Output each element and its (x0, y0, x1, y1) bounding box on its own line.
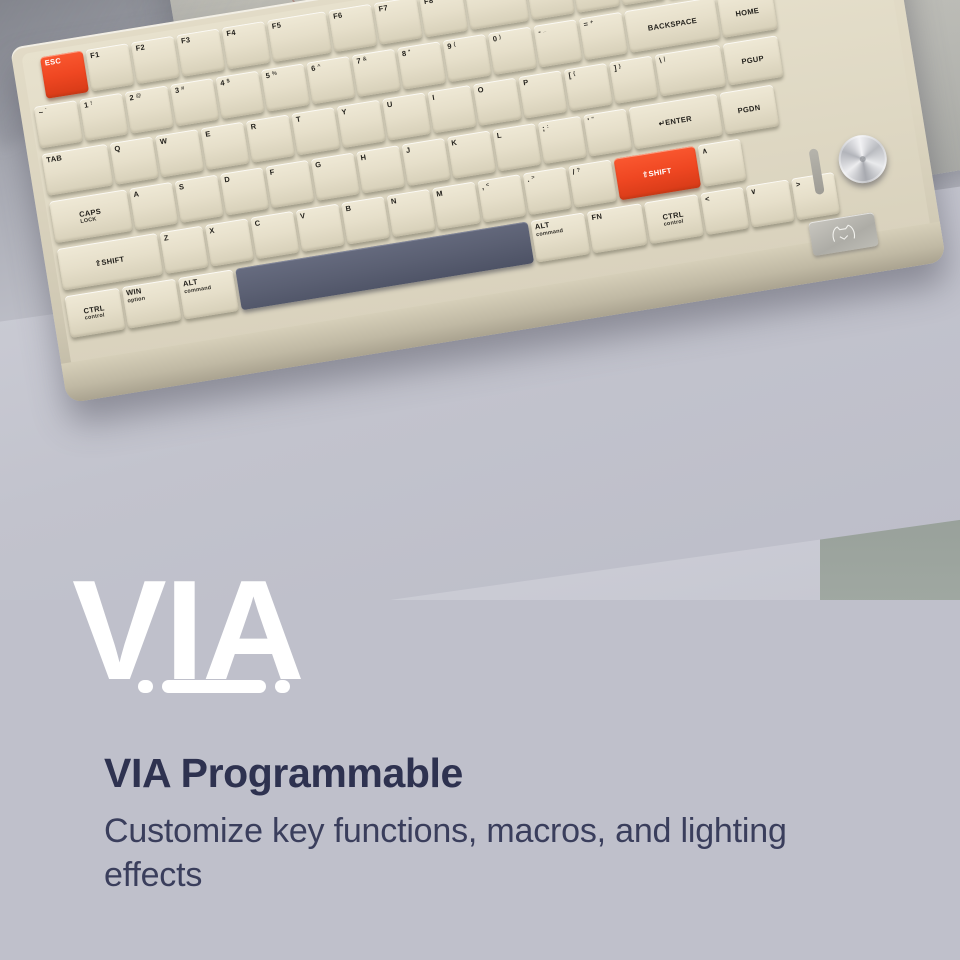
key-h[interactable]: H (356, 145, 405, 193)
key-8[interactable]: 8* (397, 41, 446, 89)
key-5[interactable]: 5% (261, 63, 310, 111)
key-fn[interactable]: FN (587, 203, 648, 253)
key-j[interactable]: J (401, 138, 450, 186)
subline: Customize key functions, macros, and lig… (104, 810, 864, 897)
key-f1[interactable]: F1 (85, 43, 134, 91)
key-f3[interactable]: F3 (176, 28, 225, 76)
marketing-content: VIA VIA Programmable Customize key funct… (0, 600, 960, 960)
decorative-divider (138, 680, 290, 693)
key-o[interactable]: O (473, 78, 522, 126)
key-space[interactable]: '" (583, 108, 632, 156)
key-f7[interactable]: F7 (374, 0, 423, 45)
divider-dot-right (275, 680, 290, 693)
key-alt[interactable]: ALTcommand (178, 269, 239, 319)
key-space[interactable]: ;: (537, 116, 586, 164)
key-n[interactable]: N (386, 189, 435, 237)
product-photo: V75 minimalistic design · inhe THIS IS E… (0, 0, 960, 600)
key-m[interactable]: M (431, 182, 480, 230)
key-win[interactable]: WINoption (121, 279, 182, 329)
key-x[interactable]: X (204, 218, 253, 266)
key-space[interactable]: [{ (564, 63, 613, 111)
key-q[interactable]: Q (110, 136, 159, 184)
key-space[interactable]: ,< (477, 174, 526, 222)
key-6[interactable]: 6^ (306, 56, 355, 104)
divider-dot-left (138, 680, 153, 693)
key-space[interactable]: ~` (34, 100, 83, 148)
key-esc[interactable]: ESC (40, 50, 89, 98)
key-t[interactable]: T (291, 107, 340, 155)
key-v[interactable]: V (295, 204, 344, 252)
key-1[interactable]: 1! (79, 93, 128, 141)
key-ctrl[interactable]: CTRLcontrol (643, 194, 704, 244)
key-u[interactable]: U (382, 92, 431, 140)
key-a[interactable]: A (129, 182, 178, 230)
promo-image: V75 minimalistic design · inhe THIS IS E… (0, 0, 960, 960)
key-pgup[interactable]: PGUP (723, 35, 784, 85)
key-space[interactable]: ∧ (697, 139, 746, 187)
key-g[interactable]: G (310, 153, 359, 201)
key-space[interactable]: ]} (609, 56, 658, 104)
key-w[interactable]: W (155, 129, 204, 177)
key-space[interactable]: .> (522, 167, 571, 215)
key-f[interactable]: F (265, 160, 314, 208)
key-b[interactable]: B (341, 196, 390, 244)
key-ctrl[interactable]: CTRLcontrol (64, 288, 125, 338)
key-space[interactable]: -_ (533, 19, 582, 67)
cat-icon (827, 221, 860, 248)
key-4[interactable]: 4$ (215, 71, 264, 119)
key-i[interactable]: I (427, 85, 476, 133)
key-k[interactable]: K (446, 131, 495, 179)
key-space[interactable]: < (700, 187, 749, 235)
key-z[interactable]: Z (159, 226, 208, 274)
headline: VIA Programmable (104, 750, 463, 797)
key-d[interactable]: D (219, 167, 268, 215)
key-space[interactable]: /? (568, 159, 617, 207)
key-c[interactable]: C (250, 211, 299, 259)
key-0[interactable]: 0) (488, 27, 537, 75)
key-7[interactable]: 7& (352, 49, 401, 97)
key-s[interactable]: S (174, 175, 223, 223)
key-9[interactable]: 9( (442, 34, 491, 82)
key-e[interactable]: E (200, 122, 249, 170)
key-y[interactable]: Y (337, 100, 386, 148)
key-f4[interactable]: F4 (222, 21, 271, 69)
key-f2[interactable]: F2 (131, 36, 180, 84)
key-space[interactable]: =+ (579, 12, 628, 60)
key-r[interactable]: R (246, 114, 295, 162)
key-space[interactable]: ∨ (746, 179, 795, 227)
key-3[interactable]: 3# (170, 78, 219, 126)
key-f6[interactable]: F6 (328, 4, 377, 52)
key-p[interactable]: P (518, 70, 567, 118)
key-2[interactable]: 2@ (125, 85, 174, 133)
divider-bar (162, 680, 266, 693)
key-pgdn[interactable]: PGDN (719, 85, 780, 135)
key-l[interactable]: L (492, 123, 541, 171)
key-alt[interactable]: ALTcommand (530, 212, 591, 262)
